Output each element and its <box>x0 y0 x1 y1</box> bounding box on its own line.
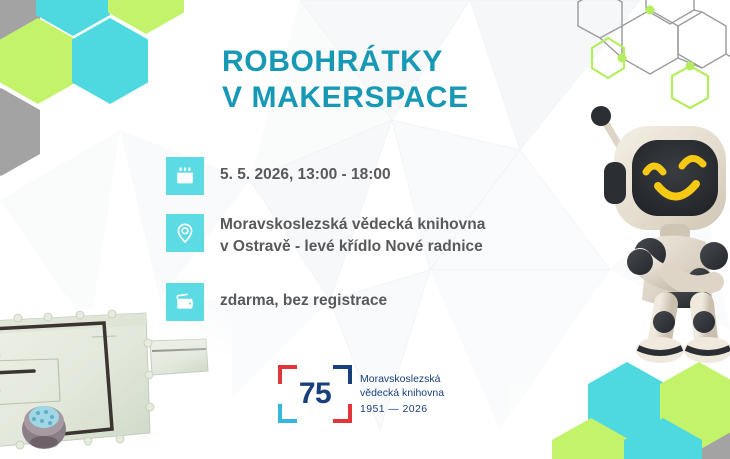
info-price-text: zdarma, bez registrace <box>220 283 387 312</box>
poster-canvas: ROBOHRÁTKY V MAKERSPACE 5. 5. 2026, 13:0… <box>0 0 730 459</box>
logo-text-block: Moravskoslezská vědecká knihovna 1951 — … <box>360 372 444 416</box>
logo-anniversary-mark: 75 <box>276 363 354 425</box>
logo-years: 1951 — 2026 <box>360 402 444 416</box>
logo-anniversary-number: 75 <box>276 363 354 425</box>
page-title: ROBOHRÁTKY V MAKERSPACE <box>222 44 469 116</box>
info-row-price: zdarma, bez registrace <box>166 283 387 321</box>
map-pin-icon <box>166 214 204 252</box>
logo-name-line2: vědecká knihovna <box>360 386 444 400</box>
info-date-text: 5. 5. 2026, 13:00 - 18:00 <box>220 157 391 186</box>
library-logo: 75 Moravskoslezská vědecká knihovna 1951… <box>276 363 458 425</box>
info-location-text: Moravskoslezská vědecká knihovna v Ostra… <box>220 214 485 258</box>
logo-name-line1: Moravskoslezská <box>360 372 444 386</box>
calendar-icon <box>166 157 204 195</box>
wallet-icon <box>166 283 204 321</box>
info-row-location: Moravskoslezská vědecká knihovna v Ostra… <box>166 214 485 258</box>
info-row-date: 5. 5. 2026, 13:00 - 18:00 <box>166 157 391 195</box>
